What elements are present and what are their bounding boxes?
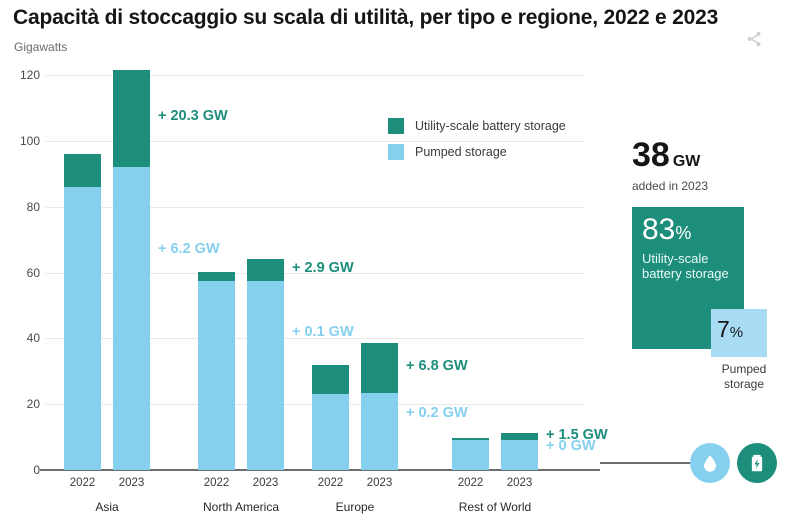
legend-item-pumped[interactable]: Pumped storage	[388, 144, 566, 160]
x-axis-group-label: Europe	[275, 500, 435, 514]
y-axis-tick-label: 120	[2, 68, 40, 82]
summary-headline: 38GW	[632, 138, 789, 172]
share-label-pumped: Pumped storage	[706, 362, 782, 391]
bar-segment-pumped	[198, 281, 235, 470]
x-axis-year-label: 2023	[102, 477, 162, 489]
bar-europe-2023[interactable]	[361, 343, 398, 470]
legend-item-battery[interactable]: Utility-scale battery storage	[388, 118, 566, 134]
bar-segment-pumped	[452, 440, 489, 470]
bar-segment-pumped	[247, 281, 284, 470]
x-axis-year-label: 2023	[236, 477, 296, 489]
x-axis-year-label: 2023	[350, 477, 410, 489]
bar-segment-battery	[312, 365, 349, 394]
battery-bolt-icon	[737, 443, 777, 483]
summary-value: 38	[632, 136, 670, 174]
legend-swatch-battery	[388, 118, 404, 134]
summary-unit: GW	[673, 153, 701, 170]
annotation-rest-of-world-pumped: + 0 GW	[546, 438, 596, 454]
bar-segment-battery	[113, 70, 150, 166]
annotation-europe-pumped: + 0.2 GW	[406, 405, 468, 421]
share-pct-battery: 83%	[632, 207, 744, 245]
bar-asia-2022[interactable]	[64, 154, 101, 470]
bar-rest-of-world-2022[interactable]	[452, 438, 489, 470]
annotation-north-america-battery: + 2.9 GW	[292, 260, 354, 276]
y-axis-tick-label: 40	[2, 331, 40, 345]
share-icon[interactable]	[745, 30, 763, 48]
bar-europe-2022[interactable]	[312, 365, 349, 470]
annotation-europe-battery: + 6.8 GW	[406, 358, 468, 374]
share-squares: 83% Utility-scale battery storage 7% Pum…	[632, 207, 744, 349]
summary-caption: added in 2023	[632, 179, 789, 193]
legend: Utility-scale battery storage Pumped sto…	[388, 118, 566, 170]
legend-label-battery: Utility-scale battery storage	[415, 119, 566, 133]
bar-segment-pumped	[312, 394, 349, 470]
share-label-battery: Utility-scale battery storage	[632, 245, 744, 282]
y-axis-tick-label: 60	[2, 266, 40, 280]
y-axis-tick-label: 20	[2, 397, 40, 411]
bar-segment-pumped	[361, 393, 398, 470]
annotation-asia-pumped: + 6.2 GW	[158, 241, 220, 257]
bar-north-america-2022[interactable]	[198, 272, 235, 470]
bar-asia-2023[interactable]	[113, 70, 150, 470]
bar-rest-of-world-2023[interactable]	[501, 433, 538, 470]
y-axis-tick-label: 80	[2, 200, 40, 214]
y-axis-tick-label: 100	[2, 134, 40, 148]
bar-north-america-2023[interactable]	[247, 259, 284, 470]
bar-segment-pumped	[113, 167, 150, 470]
bar-segment-battery	[361, 343, 398, 394]
bar-segment-battery	[247, 259, 284, 281]
bar-segment-battery	[64, 154, 101, 187]
annotation-north-america-pumped: + 0.1 GW	[292, 324, 354, 340]
bar-segment-pumped	[64, 187, 101, 470]
share-pct-pumped: 7%	[711, 309, 767, 341]
plot-area: 020406080100120 20222023Asia20222023Nort…	[0, 0, 620, 532]
share-square-pumped: 7%	[711, 309, 767, 357]
chart-root: Capacità di stoccaggio su scala di utili…	[0, 0, 789, 532]
bar-segment-pumped	[501, 440, 538, 470]
annotation-asia-battery: + 20.3 GW	[158, 108, 228, 124]
legend-swatch-pumped	[388, 144, 404, 160]
water-droplet-icon	[690, 443, 730, 483]
legend-label-pumped: Pumped storage	[415, 145, 507, 159]
x-axis-group-label: Rest of World	[415, 500, 575, 514]
summary-panel: 38GW added in 2023 83% Utility-scale bat…	[632, 138, 789, 349]
x-axis-year-label: 2023	[490, 477, 550, 489]
bar-segment-battery	[198, 272, 235, 282]
y-axis-tick-label: 0	[2, 463, 40, 477]
